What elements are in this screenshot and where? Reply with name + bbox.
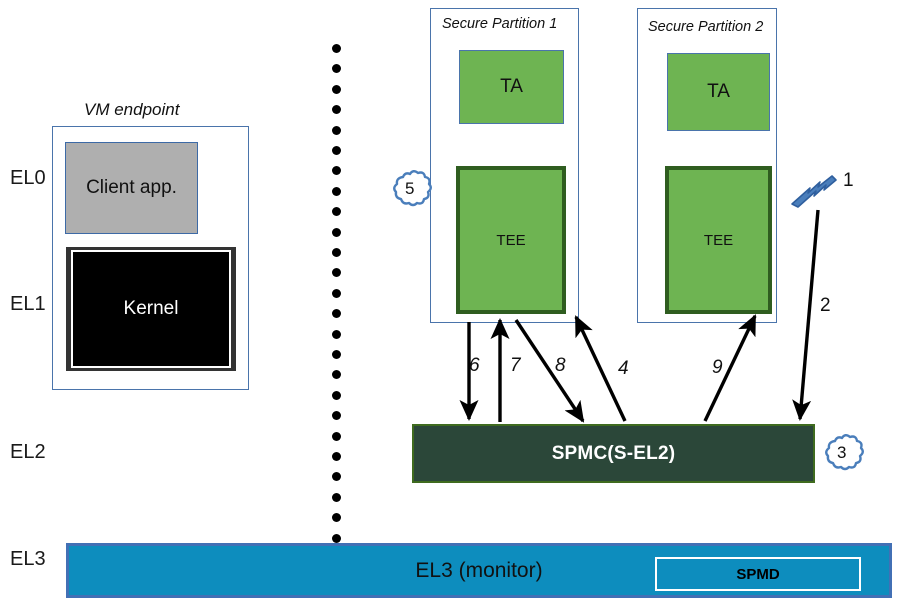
kernel-inner-frame: Kernel [71,250,231,368]
divider-dot [332,85,341,94]
arrow-label-6: 6 [469,355,480,377]
sp1-tee-box: TEE [456,166,566,314]
lightning-bolt-icon [790,168,850,210]
divider-dot [332,350,341,359]
arrow-label-8: 8 [555,355,566,377]
cloud-callout-5-label: 5 [405,179,414,199]
divider-dot [332,513,341,522]
el3-monitor-band: EL3 (monitor) SPMD [66,543,892,598]
sp1-ta-box: TA [459,50,564,124]
arrow-label-7: 7 [510,355,521,377]
divider-dot [332,411,341,420]
divider-dot [332,289,341,298]
secure-partition-1-title: Secure Partition 1 [442,16,557,32]
arrow-label-4: 4 [618,358,629,380]
sp2-ta-label: TA [707,81,730,103]
kernel-box: Kernel [66,247,236,371]
divider-dot [332,330,341,339]
divider-dot [332,493,341,502]
sp1-ta-label: TA [500,76,523,98]
divider-dot [332,309,341,318]
divider-dot [332,44,341,53]
arrow-label-9: 9 [712,357,723,379]
spmc-box: SPMC(S-EL2) [412,424,815,483]
divider-dot [332,268,341,277]
divider-dot [332,472,341,481]
divider-dot [332,105,341,114]
divider-dot [332,64,341,73]
el3-monitor-label: EL3 (monitor) [415,559,542,583]
client-app-label: Client app. [86,177,177,199]
divider-dot [332,207,341,216]
level-label-el0: EL0 [10,168,46,188]
level-label-el1: EL1 [10,294,46,314]
kernel-label: Kernel [124,298,179,320]
diagram-canvas: EL0 EL1 EL2 EL3 VM endpoint Client app. … [0,0,902,608]
spmd-box: SPMD [655,557,861,591]
divider-dot [332,228,341,237]
level-label-el3: EL3 [10,549,46,569]
world-divider-dotted-line [332,44,344,534]
divider-dot [332,146,341,155]
secure-partition-2-title: Secure Partition 2 [648,19,763,35]
divider-dot [332,166,341,175]
divider-dot [332,534,341,543]
divider-dot [332,248,341,257]
divider-dot [332,391,341,400]
divider-dot [332,187,341,196]
spmd-label: SPMD [736,566,779,583]
sp2-tee-box: TEE [665,166,772,314]
divider-dot [332,126,341,135]
spmc-label: SPMC(S-EL2) [552,443,676,465]
arrow-8 [516,320,583,421]
arrow-label-2: 2 [820,295,831,317]
divider-dot [332,370,341,379]
client-app-box: Client app. [65,142,198,234]
sp2-ta-box: TA [667,53,770,131]
divider-dot [332,432,341,441]
vm-endpoint-caption: VM endpoint [84,100,179,120]
sp1-tee-label: TEE [496,232,525,249]
sp2-tee-label: TEE [704,232,733,249]
lightning-marker-label: 1 [843,170,854,192]
divider-dot [332,452,341,461]
cloud-callout-3-label: 3 [837,443,846,463]
level-label-el2: EL2 [10,442,46,462]
arrow-2 [800,210,818,419]
